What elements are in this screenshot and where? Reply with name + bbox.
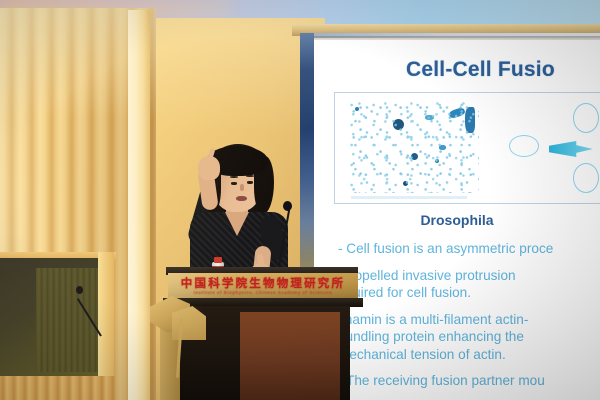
presentation-slide: Cell-Cell Fusio Dros (314, 40, 600, 400)
bullet-line: ynamin is a multi-filament actin- (338, 311, 600, 329)
bullet-line: -propelled invasive protrusion (338, 267, 600, 285)
figure-caption: Drosophila (314, 212, 600, 228)
podium-nameplate: 中国科学院生物物理研究所 Institute of Biophysics, Ch… (168, 273, 358, 299)
podium-organization-en: Institute of Biophysics, Chinese Academy… (168, 290, 358, 295)
speaker-eye-left (231, 182, 237, 185)
bullet-item: ynamin is a multi-filament actin- bundli… (338, 311, 600, 364)
slide-title: Cell-Cell Fusio (406, 58, 555, 82)
slide-figure-panel (334, 92, 600, 204)
wall-corner-post (128, 10, 150, 400)
panel-scalebar (351, 196, 467, 199)
microphone-secondary-head (76, 286, 83, 294)
bullet-item: - The receiving fusion partner mou (338, 372, 600, 390)
speaker-mouth (236, 196, 247, 201)
speaker-eye-right (247, 181, 253, 184)
slide-bullet-list: - Cell fusion is an asymmetric proce -pr… (338, 240, 600, 399)
lecture-scene: Cell-Cell Fusio Dros (0, 0, 600, 400)
microscopy-image (349, 101, 479, 193)
microphone-head (283, 201, 292, 211)
cell-schematic (495, 99, 600, 197)
podium-front-panel (240, 312, 340, 400)
podium-organization-cn: 中国科学院生物物理研究所 (168, 275, 358, 291)
bullet-item: -propelled invasive protrusion equired f… (338, 267, 600, 302)
fusion-arrow-cell (549, 141, 593, 157)
bullet-line: - Cell fusion is an asymmetric proce (338, 240, 600, 258)
window-frame-bottom (0, 376, 116, 400)
bullet-line: mechanical tension of actin. (338, 346, 600, 364)
speaker-brow-right (246, 175, 254, 177)
speaker-nose (240, 184, 244, 191)
bullet-line: - The receiving fusion partner mou (338, 372, 600, 390)
bullet-line: equired for cell fusion. (338, 284, 600, 302)
water-bottle-cap (214, 257, 222, 263)
speaker-brow-left (230, 176, 238, 178)
bullet-item: - Cell fusion is an asymmetric proce (338, 240, 600, 258)
bullet-line: bundling protein enhancing the (338, 328, 600, 346)
